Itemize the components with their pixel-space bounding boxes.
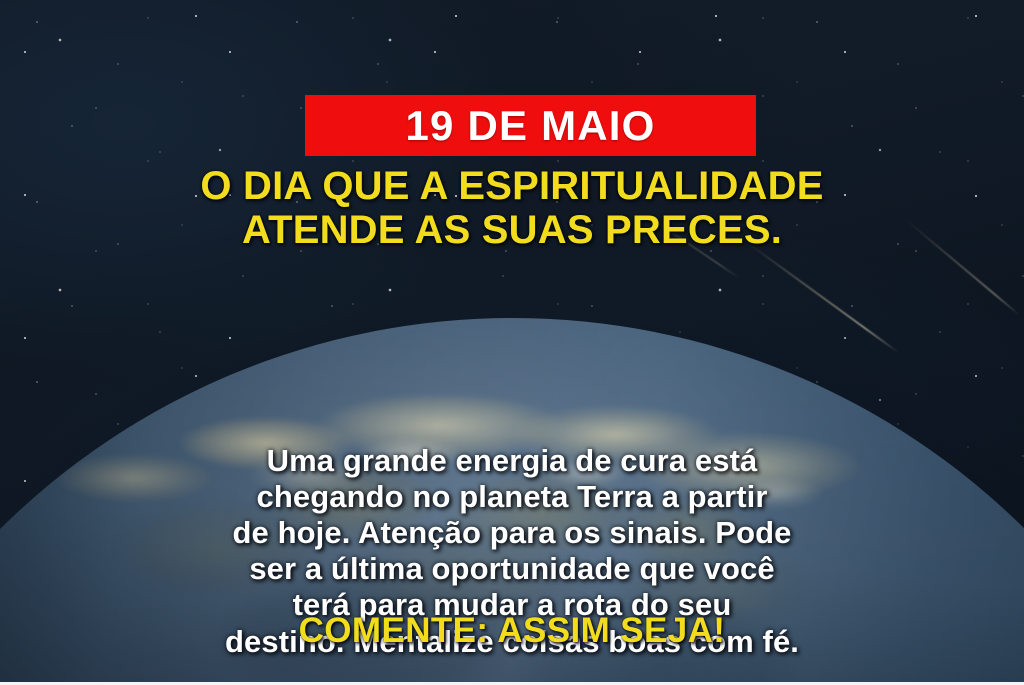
call-to-action-label: COMENTE: ASSIM SEJA! [299, 611, 726, 650]
headline: O DIA QUE A ESPIRITUALIDADE ATENDE AS SU… [0, 164, 1024, 252]
body-copy-line-1: Uma grande energia de cura está [0, 443, 1024, 479]
call-to-action: COMENTE: ASSIM SEJA! [0, 612, 1024, 651]
date-banner-label: 19 DE MAIO [405, 105, 655, 147]
date-banner: 19 DE MAIO [305, 95, 756, 156]
headline-line-2: ATENDE AS SUAS PRECES. [0, 208, 1024, 252]
headline-line-1: O DIA QUE A ESPIRITUALIDADE [0, 164, 1024, 208]
body-copy-line-4: ser a última oportunidade que você [0, 551, 1024, 587]
poster-canvas: 19 DE MAIO O DIA QUE A ESPIRITUALIDADE A… [0, 0, 1024, 685]
body-copy-line-2: chegando no planeta Terra a partir [0, 479, 1024, 515]
body-copy-line-3: de hoje. Atenção para os sinais. Pode [0, 515, 1024, 551]
